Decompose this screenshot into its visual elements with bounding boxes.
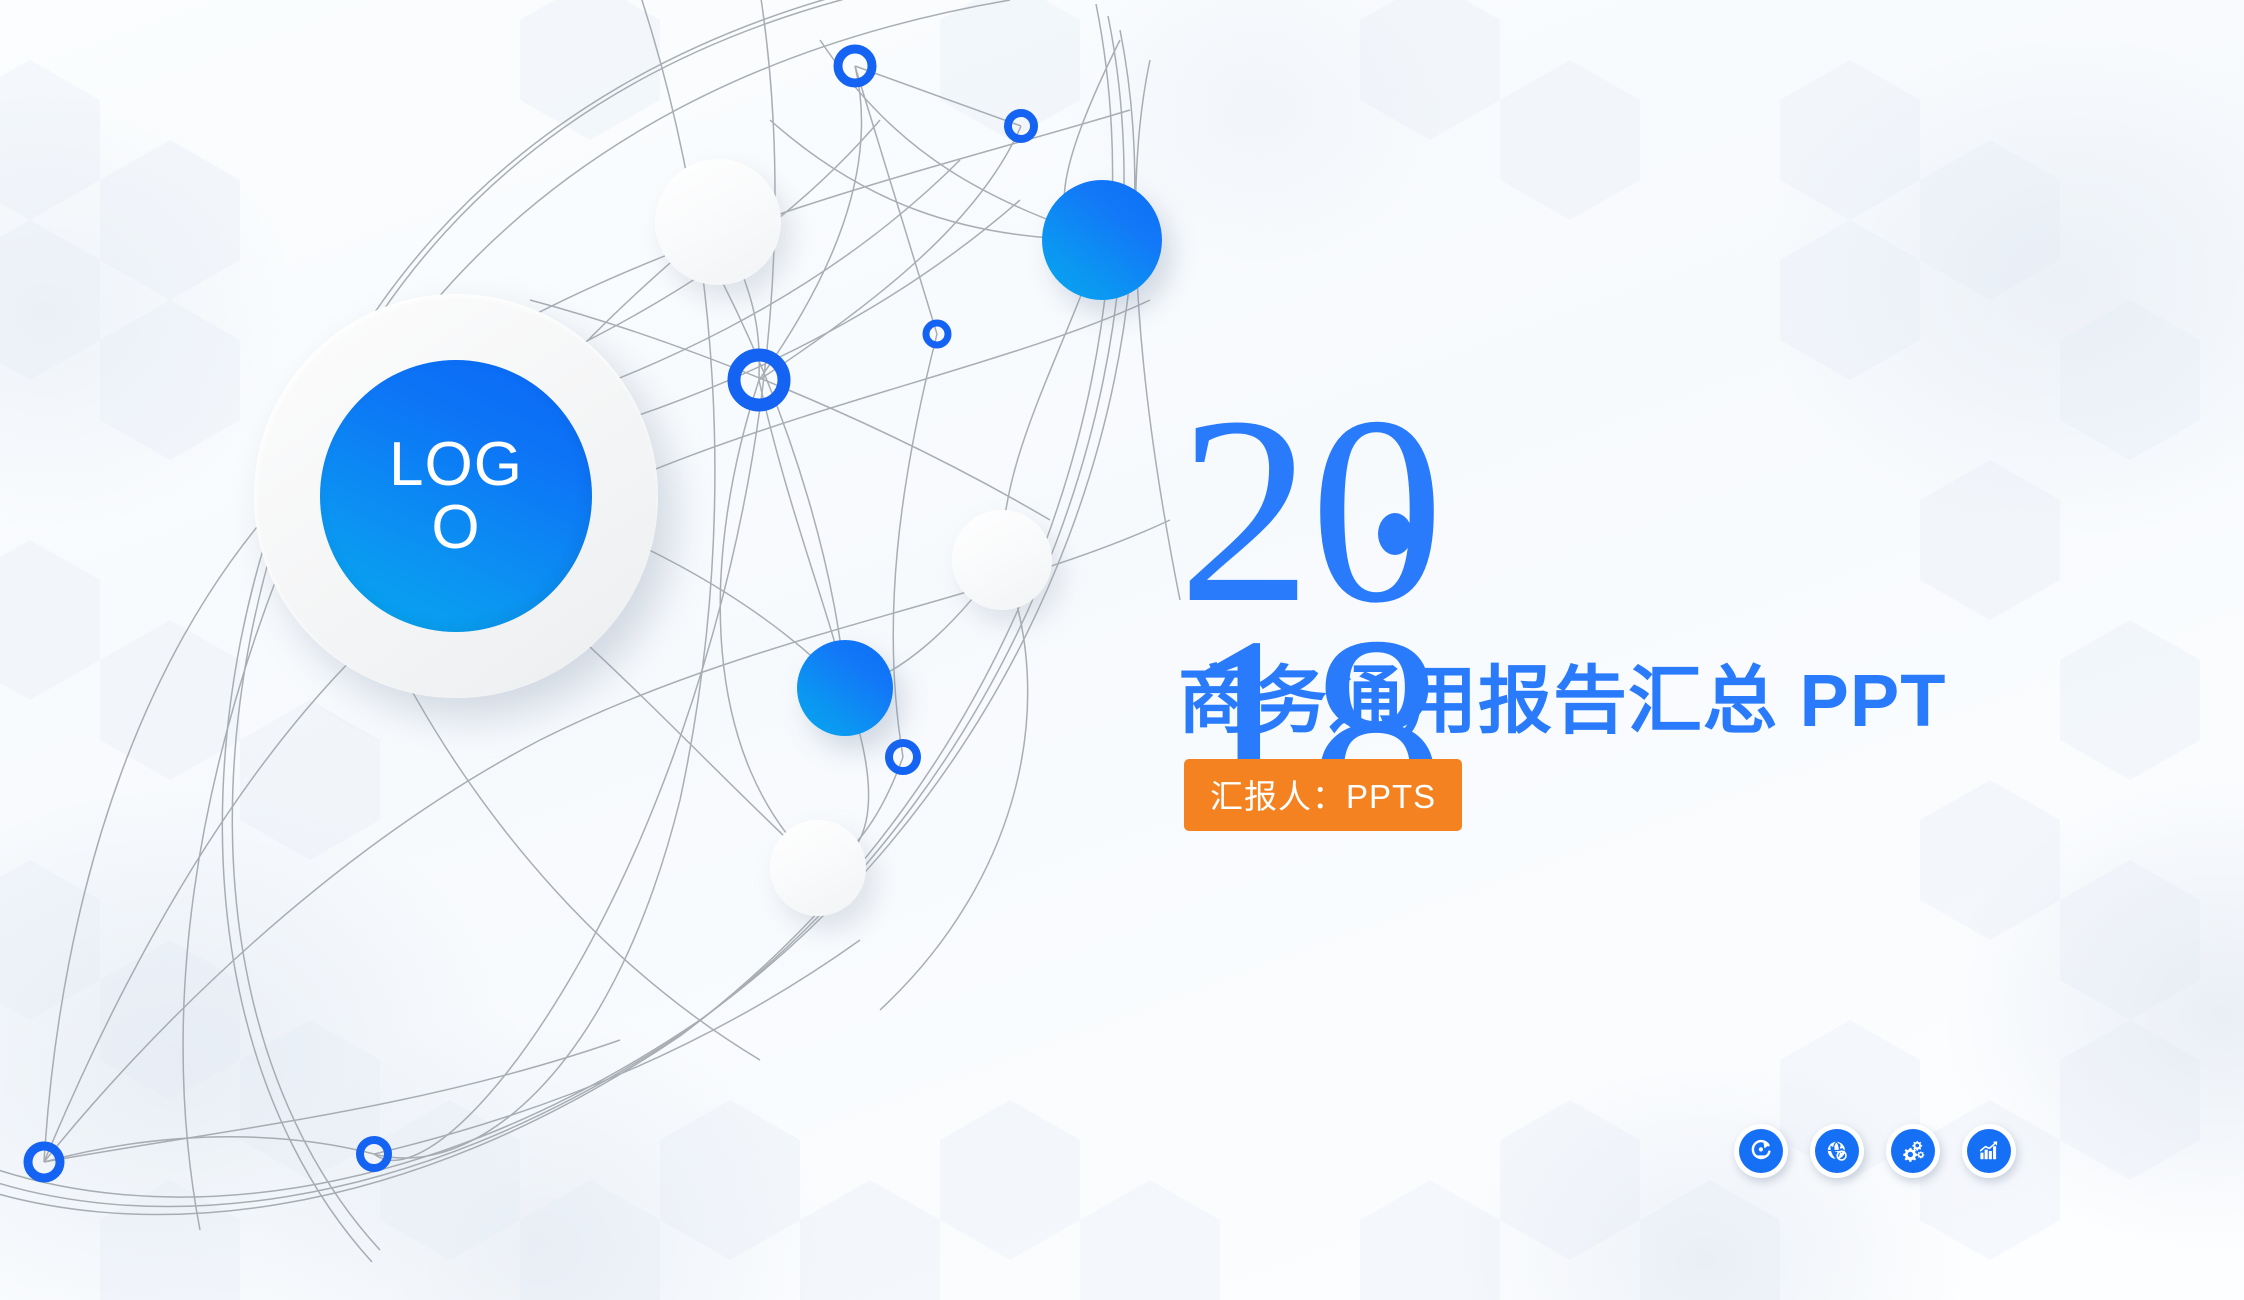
presenter-label: 汇报人：PPTS — [1210, 778, 1436, 815]
page-title: 商务通用报告汇总 PPT — [1178, 641, 1946, 748]
logo-badge[interactable]: LOGO — [254, 294, 658, 698]
sphere-blue-top — [1042, 180, 1162, 300]
sphere-blue-mid — [797, 640, 893, 736]
icon-button-gears[interactable] — [1886, 1124, 1940, 1178]
logo-text: LOGO — [371, 433, 541, 559]
icon-button-growth[interactable] — [1734, 1124, 1788, 1178]
globe-icon — [1815, 1129, 1859, 1173]
sphere-grey-mid — [952, 510, 1052, 610]
presenter-badge: 汇报人：PPTS — [1184, 759, 1462, 831]
sphere-grey-low — [770, 820, 866, 916]
gears-icon — [1891, 1129, 1935, 1173]
title-block: 2018 商务通用报告汇总 PPT 汇报人：PPTS — [1178, 400, 2188, 840]
icon-button-globe[interactable] — [1810, 1124, 1864, 1178]
presentation-cover-slide: LOGO 2018 商务通用报告汇总 PPT 汇报人：PPTS — [0, 0, 2244, 1300]
growth-arrow-icon — [1739, 1129, 1783, 1173]
logo-circle: LOGO — [320, 360, 592, 632]
bar-chart-icon — [1967, 1129, 2011, 1173]
feature-icon-row — [1734, 1124, 2016, 1178]
year-zero-dot-decoration — [1378, 513, 1412, 555]
icon-button-chart[interactable] — [1962, 1124, 2016, 1178]
sphere-grey-top — [655, 159, 781, 285]
